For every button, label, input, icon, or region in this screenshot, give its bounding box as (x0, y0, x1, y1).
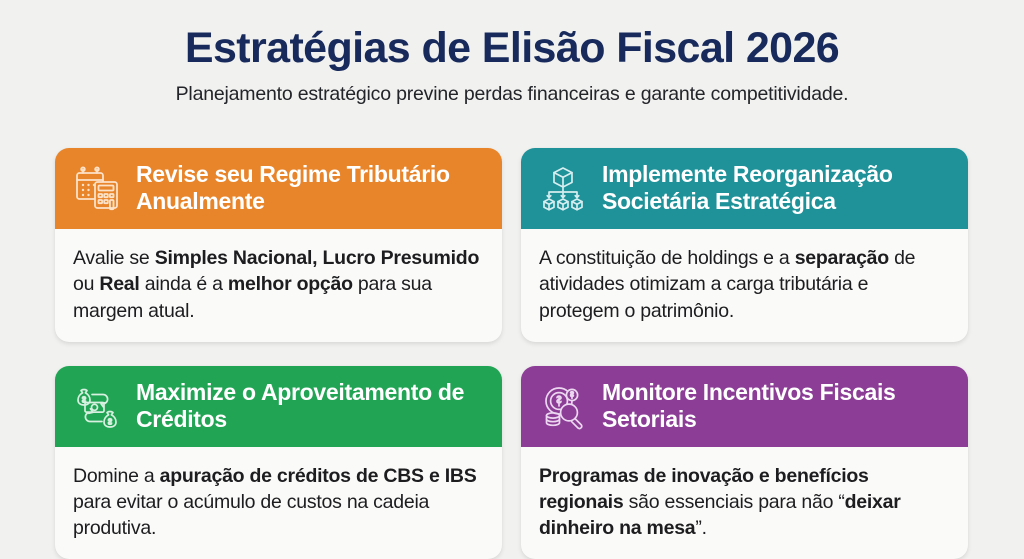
header: Estratégias de Elisão Fiscal 2026 Planej… (0, 0, 1024, 106)
page-subtitle: Planejamento estratégico previne perdas … (0, 83, 1024, 106)
card-header: Maximize o Aproveitamento de Créditos (55, 366, 502, 447)
page-title: Estratégias de Elisão Fiscal 2026 (0, 26, 1024, 72)
org-chart-boxes-icon (538, 163, 588, 213)
card-title: Maximize o Aproveitamento de Créditos (136, 379, 486, 433)
infographic-page: Estratégias de Elisão Fiscal 2026 Planej… (0, 0, 1024, 527)
card-title: Implemente Reorganização Societária Estr… (602, 161, 952, 215)
card-header: Monitore Incentivos Fiscais Setoriais (521, 366, 968, 447)
card-header: Implemente Reorganização Societária Estr… (521, 148, 968, 229)
card-body: Programas de inovação e benefícios regio… (521, 447, 968, 559)
card-incentivos-fiscais: Monitore Incentivos Fiscais Setoriais Pr… (521, 366, 968, 559)
card-title: Monitore Incentivos Fiscais Setoriais (602, 379, 952, 433)
card-header: Revise seu Regime Tributário Anualmente (55, 148, 502, 229)
card-aproveitamento-creditos: Maximize o Aproveitamento de Créditos Do… (55, 366, 502, 559)
card-reorganizacao-societaria: Implemente Reorganização Societária Estr… (521, 148, 968, 342)
card-body: A constituição de holdings e a separação… (521, 229, 968, 341)
calendar-calculator-icon (72, 163, 122, 213)
coins-magnifier-icon (538, 381, 588, 431)
money-bags-cycle-icon (72, 381, 122, 431)
card-regime-tributario: Revise seu Regime Tributário Anualmente … (55, 148, 502, 342)
cards-grid: Revise seu Regime Tributário Anualmente … (55, 148, 968, 559)
card-body: Domine a apuração de créditos de CBS e I… (55, 447, 502, 559)
card-title: Revise seu Regime Tributário Anualmente (136, 161, 486, 215)
card-body: Avalie se Simples Nacional, Lucro Presum… (55, 229, 502, 341)
